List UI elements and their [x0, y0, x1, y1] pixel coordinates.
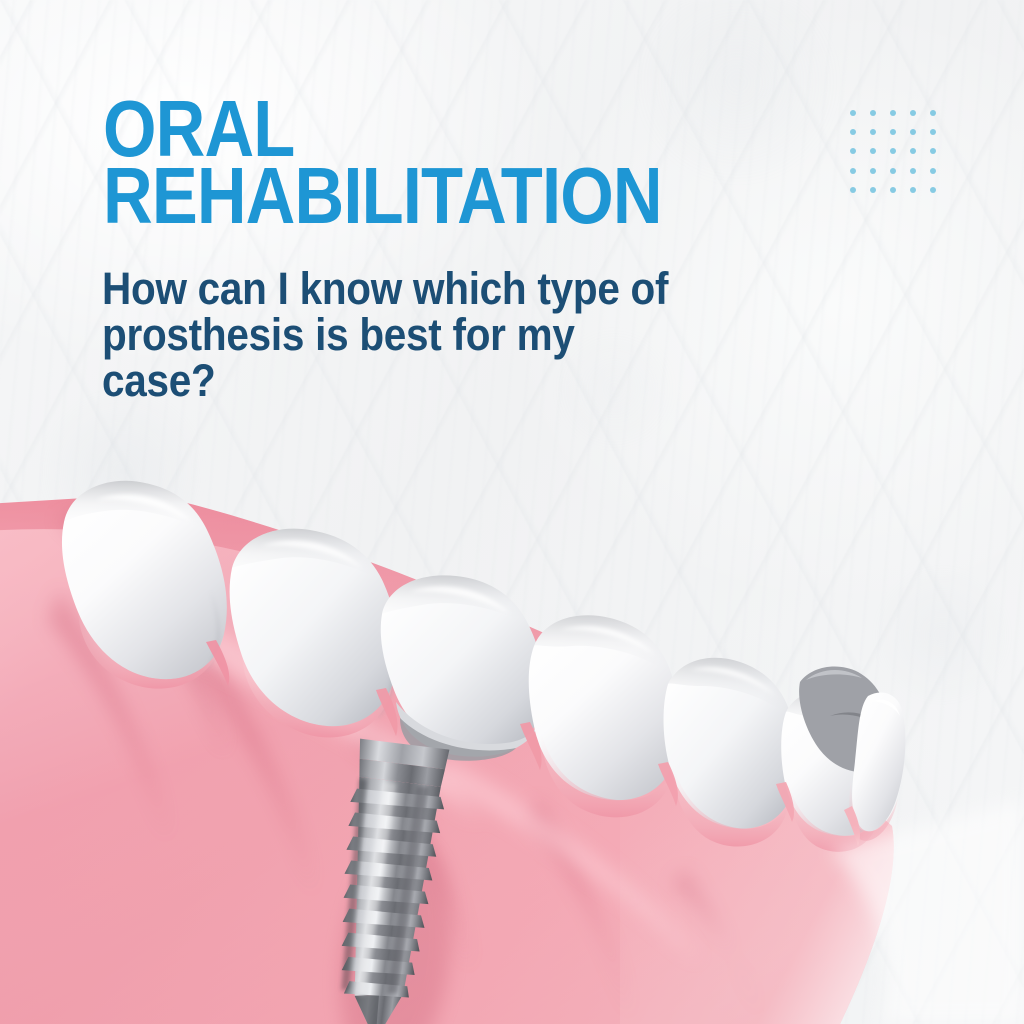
grid-dot	[930, 148, 936, 154]
grid-dot	[870, 187, 876, 193]
grid-dot	[870, 110, 876, 116]
grid-dot	[910, 168, 916, 174]
dental-implant-illustration	[0, 470, 1024, 1024]
grid-dot	[850, 148, 856, 154]
grid-dot	[870, 148, 876, 154]
headline-line-2: REHABILITATION	[103, 162, 722, 229]
grid-dot	[850, 187, 856, 193]
grid-dot	[930, 110, 936, 116]
grid-dot	[870, 129, 876, 135]
subheadline-question: How can I know which type of prosthesis …	[102, 266, 678, 404]
grid-dot	[870, 168, 876, 174]
grid-dot	[890, 129, 896, 135]
grid-dot	[890, 148, 896, 154]
grid-dot	[930, 129, 936, 135]
grid-dot	[910, 187, 916, 193]
grid-dot	[890, 110, 896, 116]
grid-dot	[910, 110, 916, 116]
grid-dot	[930, 168, 936, 174]
grid-dot	[910, 129, 916, 135]
grid-dot	[930, 187, 936, 193]
grid-dot	[890, 168, 896, 174]
implant-crown	[381, 575, 545, 760]
grid-dot	[850, 110, 856, 116]
grid-dot	[850, 129, 856, 135]
poster-canvas: ORAL REHABILITATION How can I know which…	[0, 0, 1024, 1024]
grid-dot	[910, 148, 916, 154]
grid-dot	[890, 187, 896, 193]
headline-block: ORAL REHABILITATION	[103, 95, 823, 229]
dot-grid-decoration	[850, 110, 950, 206]
grid-dot	[850, 168, 856, 174]
